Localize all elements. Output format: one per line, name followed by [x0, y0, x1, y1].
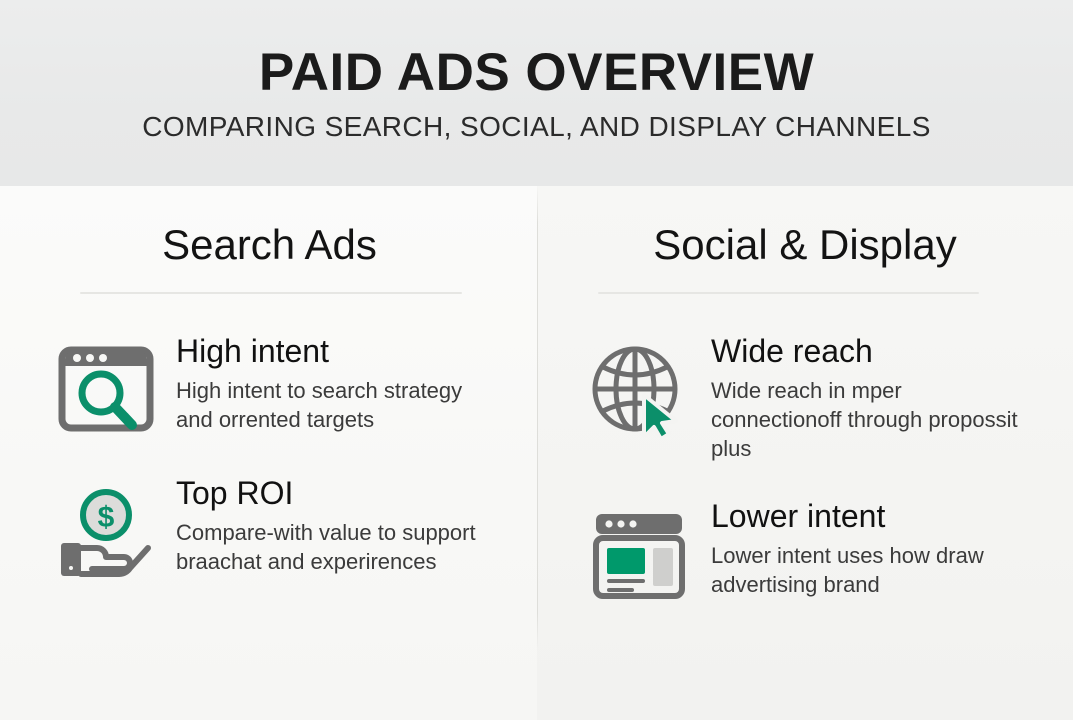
page-subtitle: COMPARING SEARCH, SOCIAL, AND DISPLAY CH…: [142, 113, 931, 141]
feature-text-wide-reach: Wide reach Wide reach in mper connection…: [711, 334, 1037, 463]
svg-text:$: $: [98, 501, 115, 534]
feature-title: Top ROI: [176, 476, 501, 512]
feature-text-lower-intent: Lower intent Lower intent uses how draw …: [711, 499, 1037, 599]
display-banner-ad-icon: [589, 505, 689, 605]
column-heading-social-display: Social & Display: [589, 224, 1037, 266]
feature-text-top-roi: Top ROI Compare-with value to support br…: [176, 476, 501, 576]
feature-description: Lower intent uses how draw advertising b…: [711, 541, 1031, 599]
browser-search-icon: [56, 340, 156, 440]
column-divider: [537, 186, 538, 650]
page-title: PAID ADS OVERVIEW: [259, 46, 814, 99]
feature-title: Wide reach: [711, 334, 1037, 370]
feature-description: Wide reach in mper connectionoff through…: [711, 376, 1031, 463]
feature-description: Compare-with value to support braachat a…: [176, 518, 476, 576]
feature-wide-reach: Wide reach Wide reach in mper connection…: [589, 334, 1037, 463]
infographic-poster: PAID ADS OVERVIEW COMPARING SEARCH, SOCI…: [0, 0, 1073, 720]
column-search-ads: Search Ads High intent Hi: [0, 186, 537, 720]
feature-title: High intent: [176, 334, 501, 370]
hand-coin-dollar-icon: $: [56, 482, 156, 582]
feature-description: High intent to search strategy and orren…: [176, 376, 476, 434]
feature-title: Lower intent: [711, 499, 1037, 535]
column-heading-search-ads: Search Ads: [56, 224, 501, 266]
column-rule-right: [598, 292, 979, 294]
feature-high-intent: High intent High intent to search strate…: [56, 334, 501, 440]
column-social-display: Social & Display Wide reach: [537, 186, 1073, 720]
column-rule-left: [80, 292, 462, 294]
globe-cursor-icon: [589, 340, 689, 440]
feature-text-high-intent: High intent High intent to search strate…: [176, 334, 501, 434]
feature-lower-intent: Lower intent Lower intent uses how draw …: [589, 499, 1037, 605]
feature-top-roi: $ Top ROI Compare-with value to support …: [56, 476, 501, 582]
poster-header: PAID ADS OVERVIEW COMPARING SEARCH, SOCI…: [0, 0, 1073, 186]
